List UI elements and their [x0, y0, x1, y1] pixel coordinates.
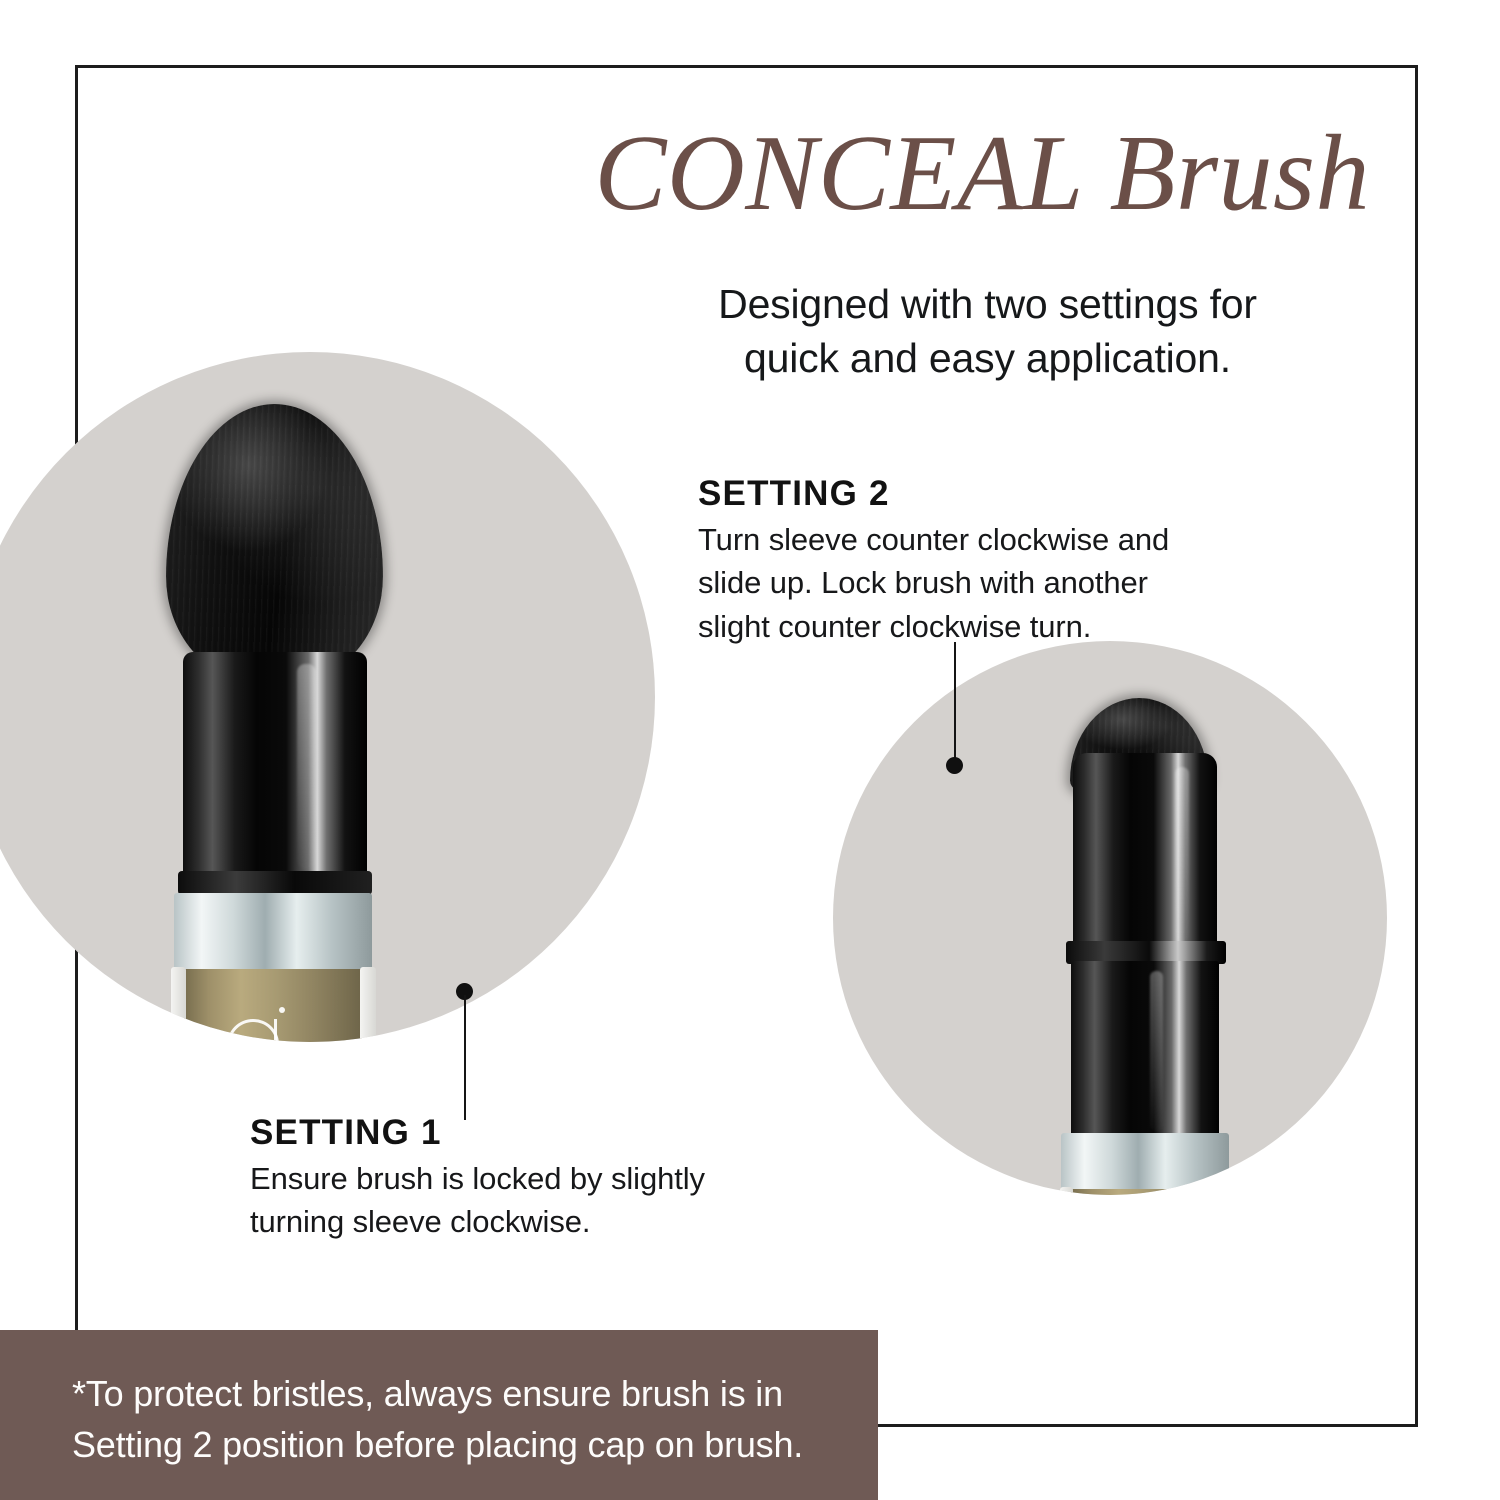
brush-silver-collar-left	[174, 893, 372, 971]
brush-barrel-left	[183, 652, 367, 879]
brush-barrel-lip-left	[178, 871, 372, 895]
setting-1-heading: SETTING 1	[250, 1113, 442, 1153]
page-subtitle-line-2: quick and easy application.	[600, 331, 1375, 385]
product-image-left-circle	[0, 352, 655, 1042]
brand-logo-ring-left	[227, 1019, 279, 1042]
brush-gold-edge-left-left	[171, 967, 186, 1042]
setting-2-heading: SETTING 2	[698, 474, 890, 514]
product-image-right-circle	[833, 641, 1387, 1195]
brush-bristles-left	[166, 404, 383, 682]
brush-gold-edge-left-right	[1060, 1187, 1073, 1195]
brush-sleeve-right	[1073, 753, 1217, 948]
brush-gold-body-right	[1071, 1189, 1219, 1195]
brush-barrel-right	[1071, 961, 1219, 1137]
brush-gold-edge-right-left	[360, 967, 376, 1042]
setting-2-leader-dot	[946, 757, 963, 774]
page-subtitle: Designed with two settings for quick and…	[600, 277, 1375, 385]
brush-silver-collar-right	[1061, 1133, 1229, 1191]
page-title: CONCEAL Brush	[440, 120, 1370, 228]
footnote-text: *To protect bristles, always ensure brus…	[72, 1368, 852, 1470]
brand-logo-dot-left	[279, 1007, 285, 1013]
brand-logo-stem-left	[274, 1019, 277, 1042]
brush-barrel-highlight-right	[1150, 971, 1163, 1131]
brush-gold-edge-right-right	[1217, 1187, 1230, 1195]
footnote-banner: *To protect bristles, always ensure brus…	[0, 1330, 878, 1500]
brush-sleeve-highlight-right	[1175, 767, 1189, 942]
page-title-secondary: Brush	[1109, 114, 1370, 233]
brand-logo-left	[227, 997, 299, 1042]
page-subtitle-line-1: Designed with two settings for	[600, 277, 1375, 331]
page-title-primary: CONCEAL	[594, 114, 1082, 233]
setting-1-body: Ensure brush is locked by slightly turni…	[250, 1157, 750, 1244]
setting-2-leader-line	[954, 642, 956, 767]
setting-1-leader-line	[464, 995, 466, 1120]
infographic-page: CONCEAL Brush Designed with two settings…	[0, 0, 1500, 1500]
setting-2-body: Turn sleeve counter clockwise and slide …	[698, 518, 1218, 648]
brush-barrel-highlight-left	[297, 664, 316, 869]
